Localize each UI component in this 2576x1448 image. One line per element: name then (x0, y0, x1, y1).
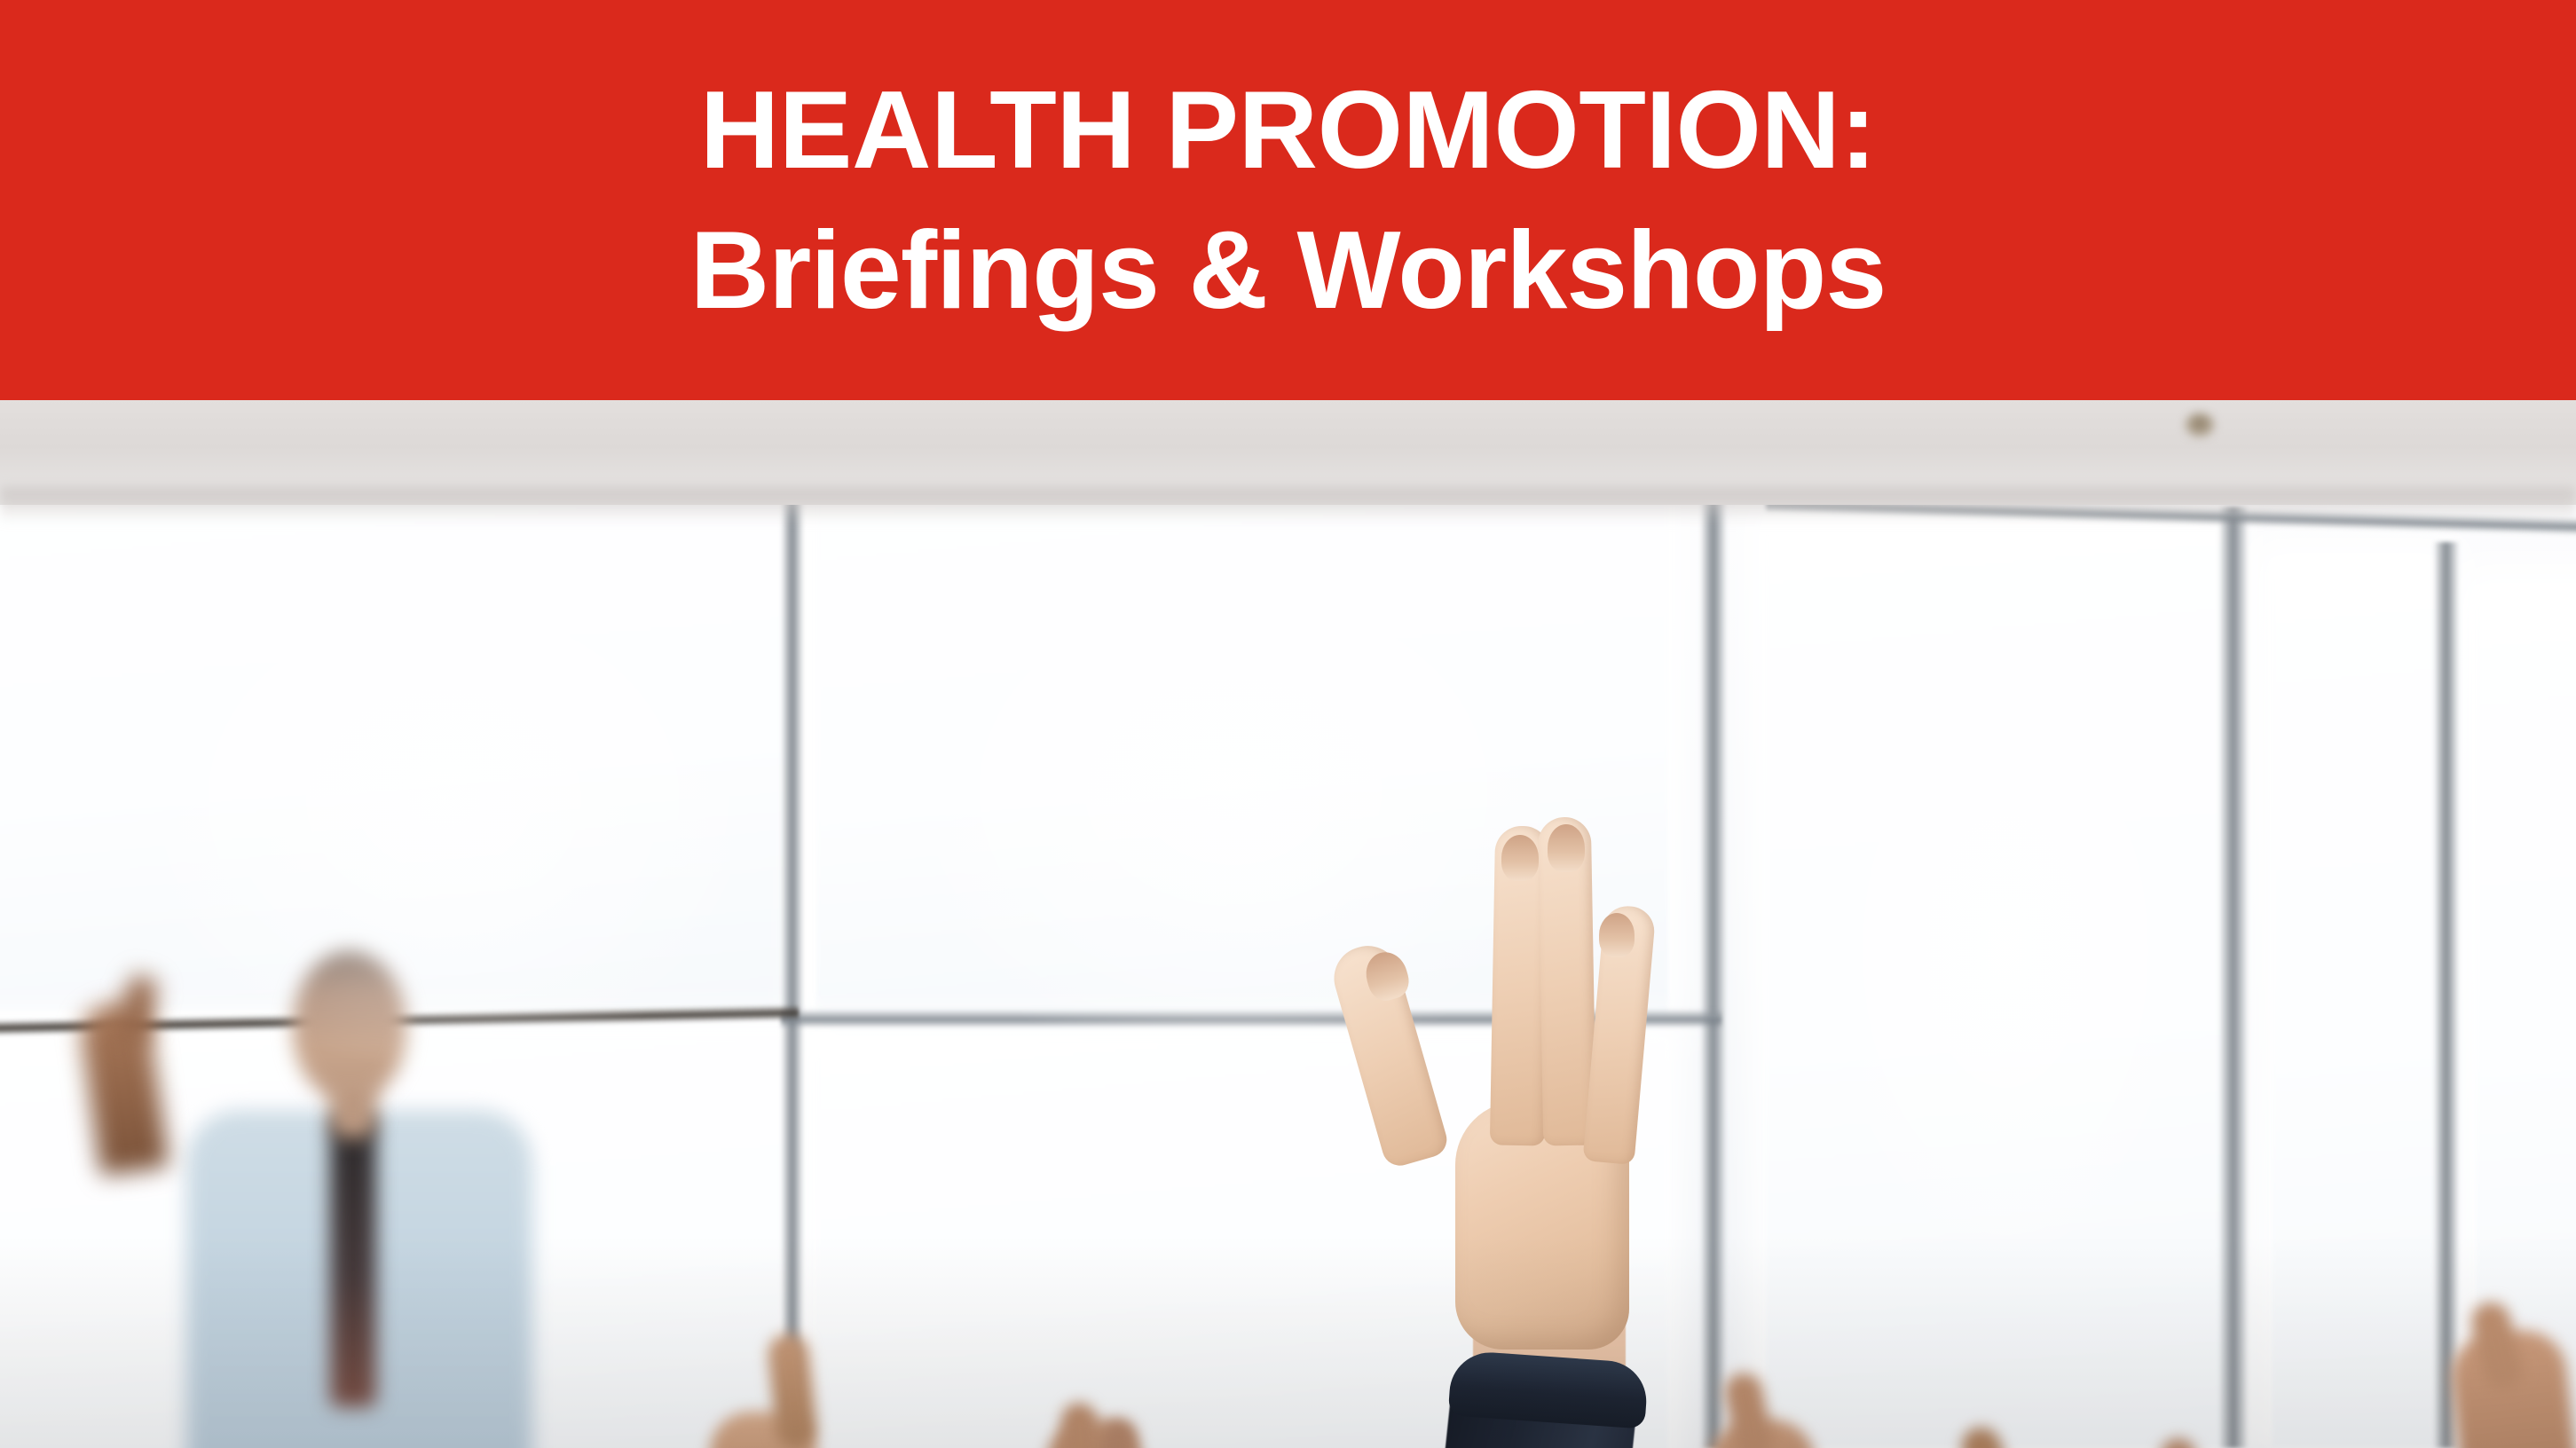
page-title-line-1: HEALTH PROMOTION: (700, 75, 1877, 185)
hero-photo (0, 400, 2576, 1448)
presenter-tie (330, 1114, 376, 1407)
window-pane (1766, 515, 2227, 1447)
window-mullion-vertical (2218, 507, 2249, 1448)
window-mullion-vertical (781, 400, 804, 1448)
window-mullion-vertical (2433, 542, 2460, 1448)
window-mullion-vertical (1700, 480, 1727, 1448)
header-banner: HEALTH PROMOTION: Briefings & Workshops (0, 0, 2576, 400)
ceiling-edge (0, 487, 2576, 523)
presenter-head (293, 950, 406, 1099)
window-pane (0, 478, 799, 1011)
page-title-line-2: Briefings & Workshops (690, 216, 1887, 326)
window-pane (2272, 560, 2440, 1447)
foreground-fingernail (1548, 824, 1585, 872)
ceiling-fixture-icon (2185, 413, 2215, 437)
foreground-fingernail (1501, 835, 1539, 881)
foreground-fingernail (1599, 913, 1635, 957)
